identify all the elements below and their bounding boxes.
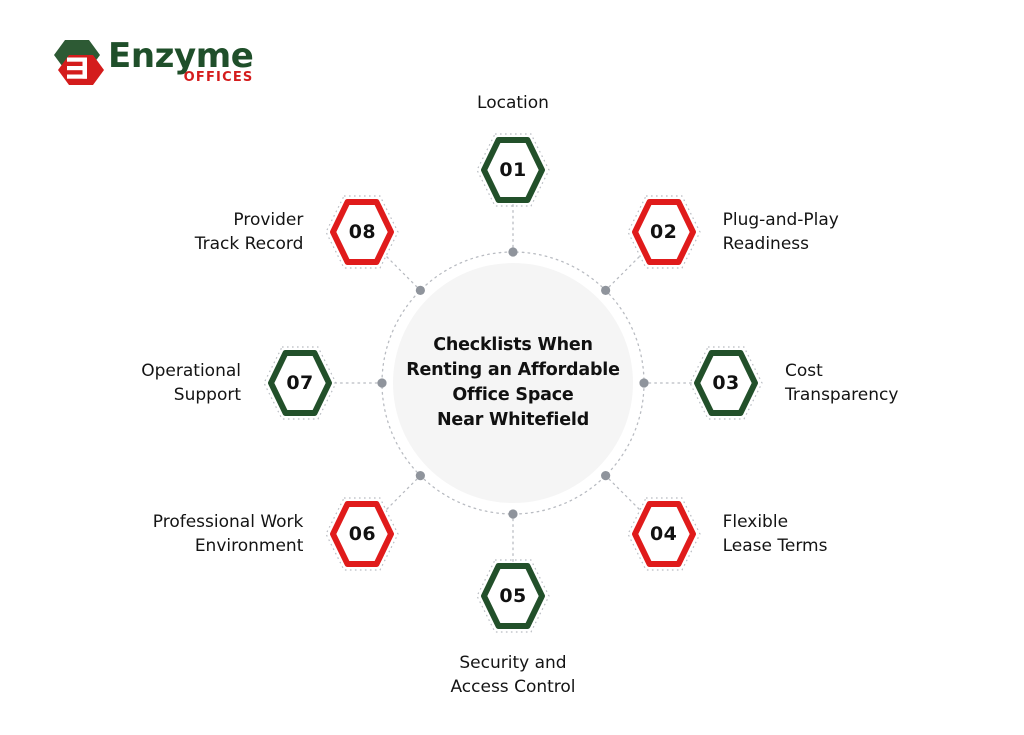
node-number-07: 07 [261, 344, 339, 422]
node-hexagon-05[interactable]: 05 [474, 557, 552, 635]
node-hexagon-02[interactable]: 02 [625, 193, 703, 271]
node-label-05: Security and Access Control [403, 651, 623, 699]
node-number-02: 02 [625, 193, 703, 271]
node-label-01: Location [403, 91, 623, 115]
node-number-04: 04 [625, 495, 703, 573]
connector-dot-03 [639, 378, 648, 387]
connector-dot-05 [508, 509, 517, 518]
node-number-05: 05 [474, 557, 552, 635]
node-label-08: Provider Track Record [83, 208, 303, 256]
node-label-06: Professional Work Environment [83, 510, 303, 558]
node-label-03: Cost Transparency [785, 359, 1005, 407]
node-hexagon-03[interactable]: 03 [687, 344, 765, 422]
node-hexagon-06[interactable]: 06 [323, 495, 401, 573]
connector-dot-07 [377, 378, 386, 387]
node-number-03: 03 [687, 344, 765, 422]
node-label-02: Plug-and-Play Readiness [723, 208, 943, 256]
infographic-canvas: Enzyme OFFICES Checklists When Renting a… [0, 0, 1024, 735]
node-number-01: 01 [474, 131, 552, 209]
node-hexagon-07[interactable]: 07 [261, 344, 339, 422]
node-number-08: 08 [323, 193, 401, 271]
node-label-07: Operational Support [21, 359, 241, 407]
connector-dot-01 [508, 247, 517, 256]
center-hub-title: Checklists When Renting an Affordable Of… [393, 263, 633, 503]
node-hexagon-01[interactable]: 01 [474, 131, 552, 209]
node-number-06: 06 [323, 495, 401, 573]
node-label-04: Flexible Lease Terms [723, 510, 943, 558]
node-hexagon-08[interactable]: 08 [323, 193, 401, 271]
node-hexagon-04[interactable]: 04 [625, 495, 703, 573]
